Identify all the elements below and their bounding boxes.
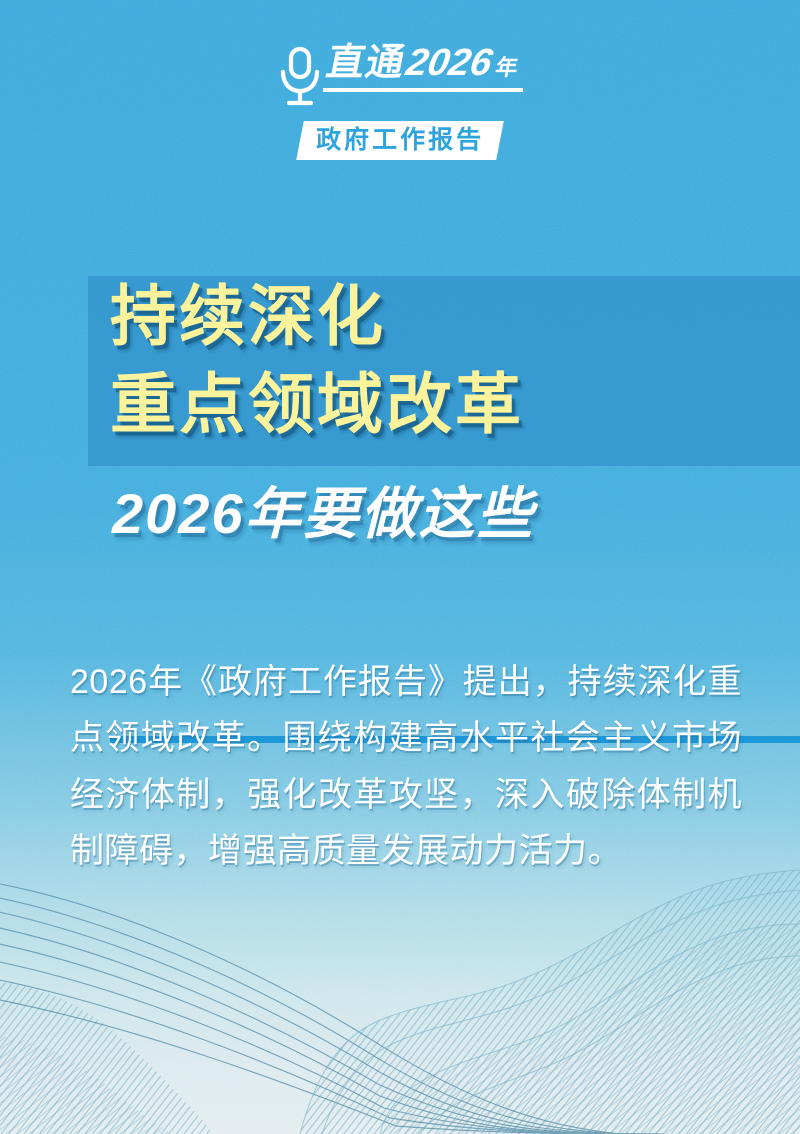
- logo-text-block: 直通 2026 年: [327, 44, 523, 92]
- subtitle: 2026年要做这些: [112, 482, 800, 546]
- logo-underline-rule: [323, 88, 523, 92]
- poster-canvas: 直通 2026 年 政府工作报告 持续深化 重点领域改革 2026年要做这些 2…: [0, 0, 800, 1134]
- report-badge-label: 政府工作报告: [316, 126, 484, 154]
- report-badge: 政府工作报告: [296, 121, 504, 160]
- headline-line-1: 持续深化: [110, 272, 800, 360]
- logo-brand-cn: 直通: [323, 44, 408, 82]
- paper-texture: [0, 0, 800, 1134]
- logo-brand-nian: 年: [493, 57, 519, 79]
- microphone-icon: [277, 46, 323, 113]
- logo-brand-year: 2026: [403, 44, 495, 82]
- body-paragraph: 2026年《政府工作报告》提出，持续深化重点领域改革。围绕构建高水平社会主义市场…: [70, 654, 742, 880]
- headline-line-2: 重点领域改革: [110, 360, 800, 448]
- logo-title: 直通 2026 年: [323, 44, 522, 82]
- headline: 持续深化 重点领域改革: [110, 272, 800, 449]
- logo-row: 直通 2026 年: [277, 44, 523, 113]
- brand-logo: 直通 2026 年 政府工作报告: [0, 44, 800, 160]
